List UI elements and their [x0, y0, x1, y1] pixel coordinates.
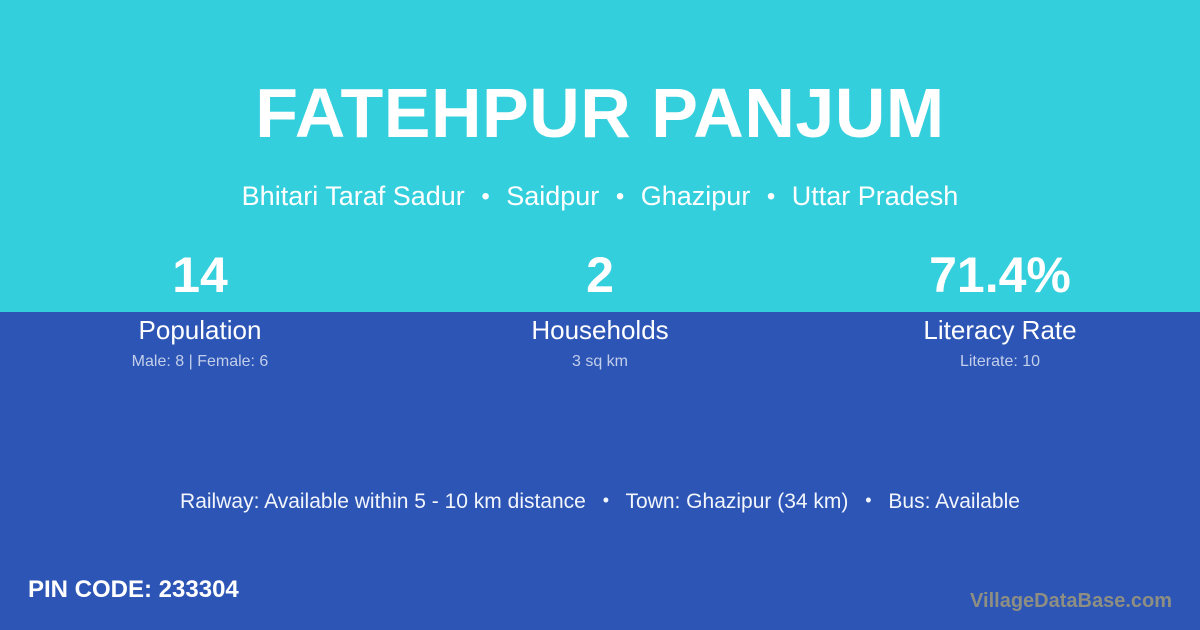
breadcrumb-item-block: Saidpur: [506, 181, 599, 211]
breadcrumb-item-village: Bhitari Taraf Sadur: [242, 181, 465, 211]
amenities-row: Railway: Available within 5 - 10 km dist…: [0, 486, 1200, 516]
village-info-card: FATEHPUR PANJUM Bhitari Taraf Sadur • Sa…: [0, 0, 1200, 630]
stat-value: 2: [400, 246, 800, 312]
stat-value: 14: [0, 246, 400, 312]
stats-strip: 14 Population Male: 8 | Female: 6 2 Hous…: [0, 246, 1200, 382]
stat-label: Literacy Rate: [800, 314, 1200, 346]
stat-households: 2 Households 3 sq km: [400, 246, 800, 382]
amenity-town: Town: Ghazipur (34 km): [625, 490, 848, 513]
breadcrumb-separator-icon: •: [607, 179, 633, 215]
amenity-separator-icon: •: [592, 486, 620, 514]
amenity-bus: Bus: Available: [888, 490, 1020, 513]
stat-label: Households: [400, 314, 800, 346]
stat-label: Population: [0, 314, 400, 346]
stat-subtext: 3 sq km: [400, 352, 800, 372]
amenity-separator-icon: •: [854, 486, 882, 514]
breadcrumb-item-district: Ghazipur: [641, 181, 751, 211]
page-title: FATEHPUR PANJUM: [0, 72, 1200, 154]
amenity-railway: Railway: Available within 5 - 10 km dist…: [180, 490, 586, 513]
breadcrumb: Bhitari Taraf Sadur • Saidpur • Ghazipur…: [0, 178, 1200, 215]
stat-value: 71.4%: [800, 246, 1200, 312]
stat-population: 14 Population Male: 8 | Female: 6: [0, 246, 400, 382]
site-watermark: VillageDataBase.com: [970, 588, 1172, 614]
breadcrumb-separator-icon: •: [758, 179, 784, 215]
stat-literacy-rate: 71.4% Literacy Rate Literate: 10: [800, 246, 1200, 382]
breadcrumb-item-state: Uttar Pradesh: [792, 181, 959, 211]
stat-subtext: Male: 8 | Female: 6: [0, 352, 400, 372]
breadcrumb-separator-icon: •: [472, 179, 498, 215]
stat-subtext: Literate: 10: [800, 352, 1200, 372]
pin-code-label: PIN CODE: 233304: [28, 575, 239, 605]
